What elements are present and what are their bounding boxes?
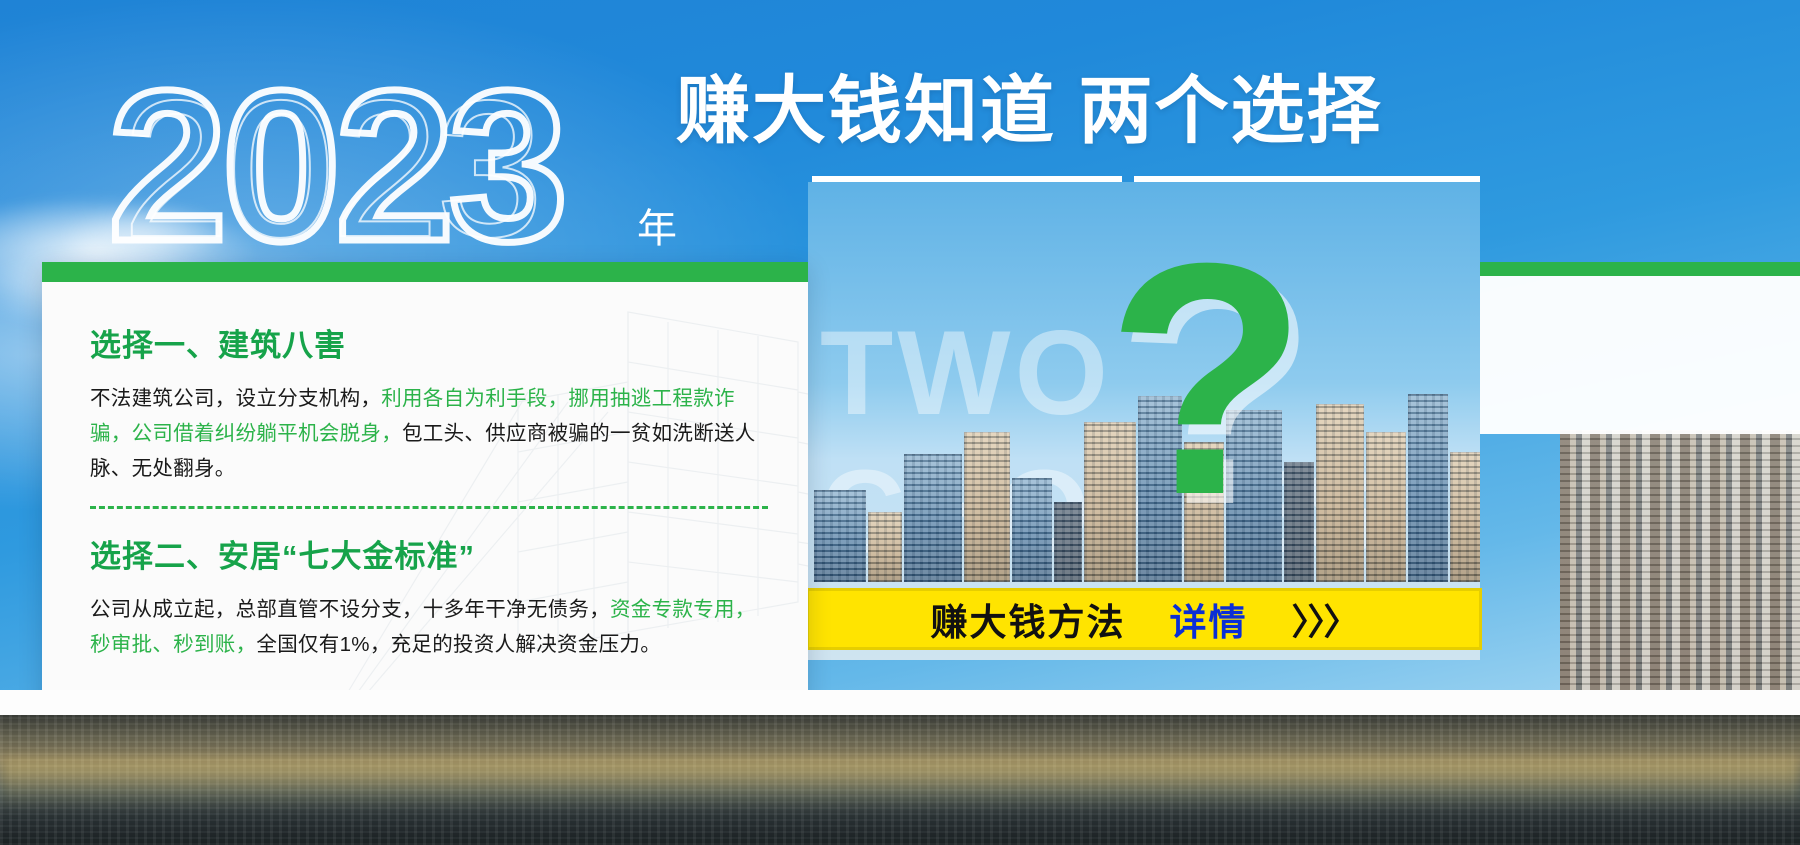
section-1-paragraph: 不法建筑公司，设立分支机构，利用各自为利手段，挪用抽逃工程款诈骗，公司借着纠纷躺… [90,381,768,486]
section-2-part-3: 全国仅有1%，充足的投资人解决资金压力。 [256,633,661,656]
section-divider [90,506,768,509]
right-skyline-background [1560,430,1800,720]
cta-banner[interactable]: 赚大钱方法 详情 〉〉〉 [806,588,1482,650]
content-card: 选择一、建筑八害 不法建筑公司，设立分支机构，利用各自为利手段，挪用抽逃工程款诈… [42,262,808,710]
section-1-title: 选择一、建筑八害 [90,320,768,365]
right-green-accent-bar [1480,262,1800,276]
section-2-paragraph: 公司从成立起，总部直管不设分支，十多年干净无债务，资金专款专用，秒审批、秒到账，… [90,592,768,662]
poster-canvas: 2023 2023 年 赚大钱知道 两个选择 TWO CHOICES [0,0,1800,845]
question-mark-graphic: ? [1106,214,1308,544]
section-2-part-1: 公司从成立起，总部直管不设分支，十多年干净无债务， [90,598,610,621]
cta-detail-link[interactable]: 详情 [1169,592,1247,646]
cta-label: 赚大钱方法 [930,592,1125,646]
page-title: 赚大钱知道 两个选择 [676,74,1383,148]
section-1-part-1: 不法建筑公司，设立分支机构， [90,387,381,410]
card-body: 选择一、建筑八害 不法建筑公司，设立分支机构，利用各自为利手段，挪用抽逃工程款诈… [42,282,808,662]
section-2-title: 选择二、安居“七大金标准” [90,531,768,576]
card-top-green-bar [42,262,808,282]
chevron-right-icon: 〉〉〉 [1291,593,1357,645]
year-unit-label: 年 [637,196,677,254]
water-highlight [0,759,1800,807]
year-ghost-number: 2023 [122,72,540,267]
right-white-panel [1480,276,1800,434]
bottom-white-strip [0,690,1800,716]
